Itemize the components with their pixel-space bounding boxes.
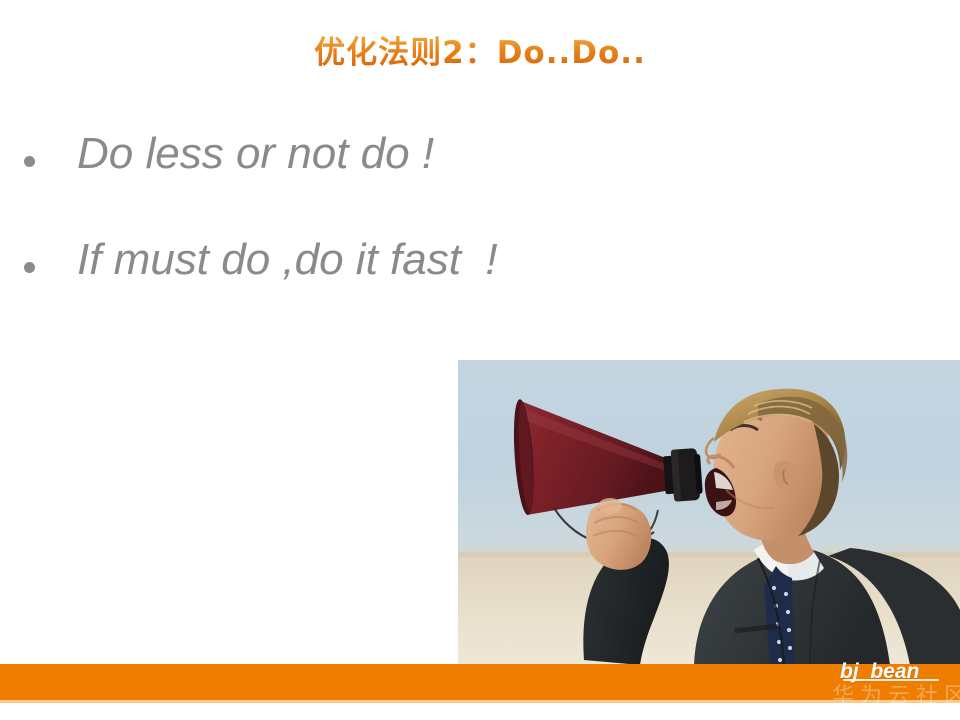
slide-title: 优化法则2：Do..Do.. xyxy=(0,36,960,70)
brand-logo: bj_bean xyxy=(840,660,919,684)
brand-logo-swoosh xyxy=(843,679,939,681)
round-bullet-icon xyxy=(24,262,35,273)
round-bullet-icon xyxy=(24,156,35,167)
bullet-text: If must do ,do it fast ! xyxy=(77,234,498,286)
list-item: Do less or not do ! xyxy=(24,128,744,180)
footer-orange-band xyxy=(0,664,960,700)
bullet-list: Do less or not do ! If must do ,do it fa… xyxy=(24,128,744,340)
footer-underline xyxy=(0,700,960,703)
list-item: If must do ,do it fast ! xyxy=(24,234,744,286)
megaphone-photo xyxy=(458,360,960,665)
presentation-slide: 优化法则2：Do..Do.. Do less or not do ! If mu… xyxy=(0,0,960,720)
bullet-text: Do less or not do ! xyxy=(77,128,434,180)
